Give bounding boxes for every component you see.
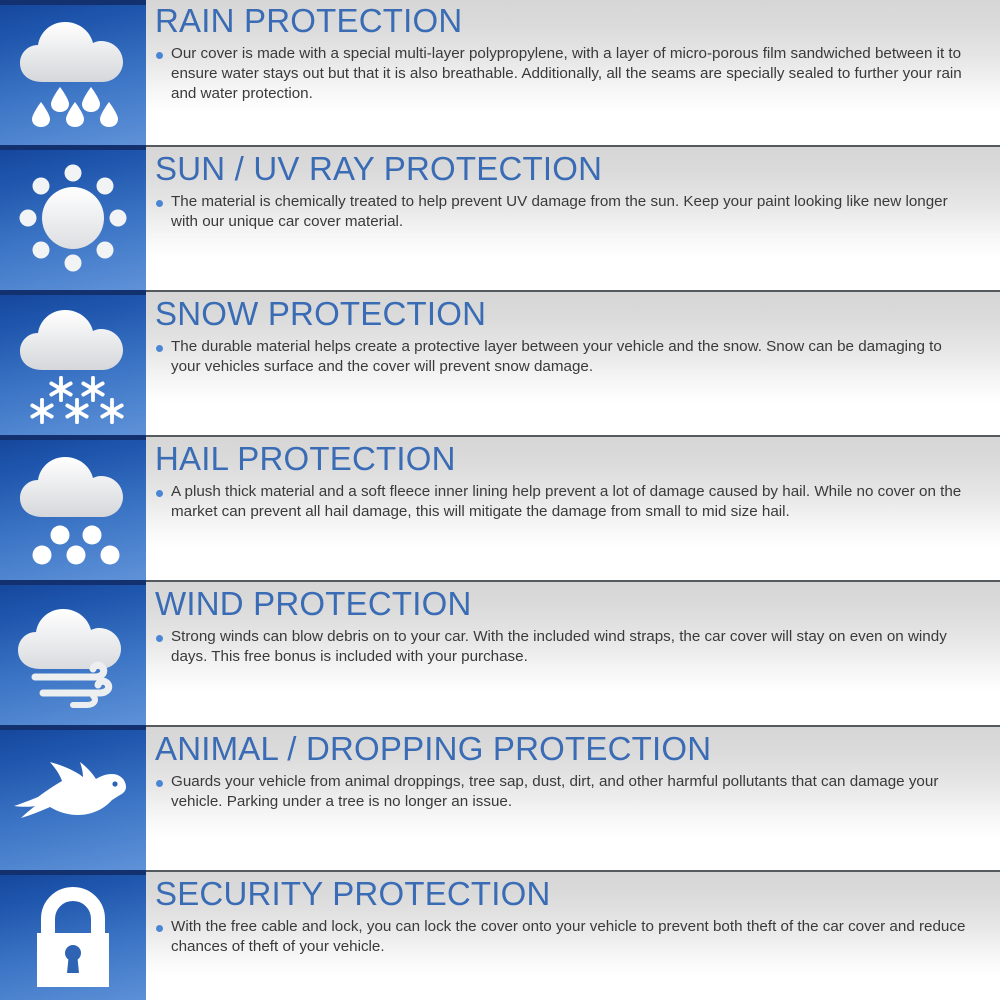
content-sun: SUN / UV RAY PROTECTION The material is … (146, 145, 1000, 290)
bird-icon (0, 725, 146, 870)
bullet-dot-icon (156, 345, 163, 352)
section-body: With the free cable and lock, you can lo… (171, 917, 971, 957)
bullet-dot-icon (156, 200, 163, 207)
content-security: SECURITY PROTECTION With the free cable … (146, 870, 1000, 1000)
feature-row-hail: HAIL PROTECTION A plush thick material a… (0, 435, 1000, 580)
section-body: The material is chemically treated to he… (171, 192, 971, 232)
icon-panel-hail (0, 435, 146, 580)
bullet-item: The durable material helps create a prot… (156, 337, 1000, 377)
content-snow: SNOW PROTECTION The durable material hel… (146, 290, 1000, 435)
bullet-dot-icon (156, 490, 163, 497)
content-hail: HAIL PROTECTION A plush thick material a… (146, 435, 1000, 580)
feature-row-sun: SUN / UV RAY PROTECTION The material is … (0, 145, 1000, 290)
bullet-item: Strong winds can blow debris on to your … (156, 627, 1000, 667)
sun-icon (0, 145, 146, 290)
bullet-item: Guards your vehicle from animal dropping… (156, 772, 1000, 812)
icon-panel-sun (0, 145, 146, 290)
feature-row-animal: ANIMAL / DROPPING PROTECTION Guards your… (0, 725, 1000, 870)
padlock-icon (0, 870, 146, 1000)
icon-panel-security (0, 870, 146, 1000)
section-body: Our cover is made with a special multi-l… (171, 44, 971, 104)
section-body: The durable material helps create a prot… (171, 337, 971, 377)
bullet-dot-icon (156, 635, 163, 642)
icon-panel-rain (0, 0, 146, 145)
bullet-dot-icon (156, 925, 163, 932)
section-title: SUN / UV RAY PROTECTION (155, 150, 1000, 188)
feature-row-wind: WIND PROTECTION Strong winds can blow de… (0, 580, 1000, 725)
bullet-dot-icon (156, 780, 163, 787)
content-rain: RAIN PROTECTION Our cover is made with a… (146, 0, 1000, 145)
section-title: WIND PROTECTION (155, 585, 1000, 623)
bullet-item: The material is chemically treated to he… (156, 192, 1000, 232)
icon-panel-wind (0, 580, 146, 725)
bullet-dot-icon (156, 52, 163, 59)
features-infographic: RAIN PROTECTION Our cover is made with a… (0, 0, 1000, 1000)
bullet-item: Our cover is made with a special multi-l… (156, 44, 1000, 104)
section-body: A plush thick material and a soft fleece… (171, 482, 971, 522)
content-animal: ANIMAL / DROPPING PROTECTION Guards your… (146, 725, 1000, 870)
bullet-item: A plush thick material and a soft fleece… (156, 482, 1000, 522)
content-wind: WIND PROTECTION Strong winds can blow de… (146, 580, 1000, 725)
icon-panel-snow (0, 290, 146, 435)
wind-cloud-icon (0, 580, 146, 725)
section-title: SNOW PROTECTION (155, 295, 1000, 333)
section-title: ANIMAL / DROPPING PROTECTION (155, 730, 1000, 768)
bullet-item: With the free cable and lock, you can lo… (156, 917, 1000, 957)
section-title: HAIL PROTECTION (155, 440, 1000, 478)
snow-cloud-icon (0, 290, 146, 435)
section-body: Guards your vehicle from animal dropping… (171, 772, 971, 812)
feature-row-snow: SNOW PROTECTION The durable material hel… (0, 290, 1000, 435)
feature-row-rain: RAIN PROTECTION Our cover is made with a… (0, 0, 1000, 145)
hail-cloud-icon (0, 435, 146, 580)
section-title: RAIN PROTECTION (155, 2, 1000, 40)
feature-row-security: SECURITY PROTECTION With the free cable … (0, 870, 1000, 1000)
section-title: SECURITY PROTECTION (155, 875, 1000, 913)
section-body: Strong winds can blow debris on to your … (171, 627, 971, 667)
icon-panel-animal (0, 725, 146, 870)
rain-cloud-icon (0, 0, 146, 145)
